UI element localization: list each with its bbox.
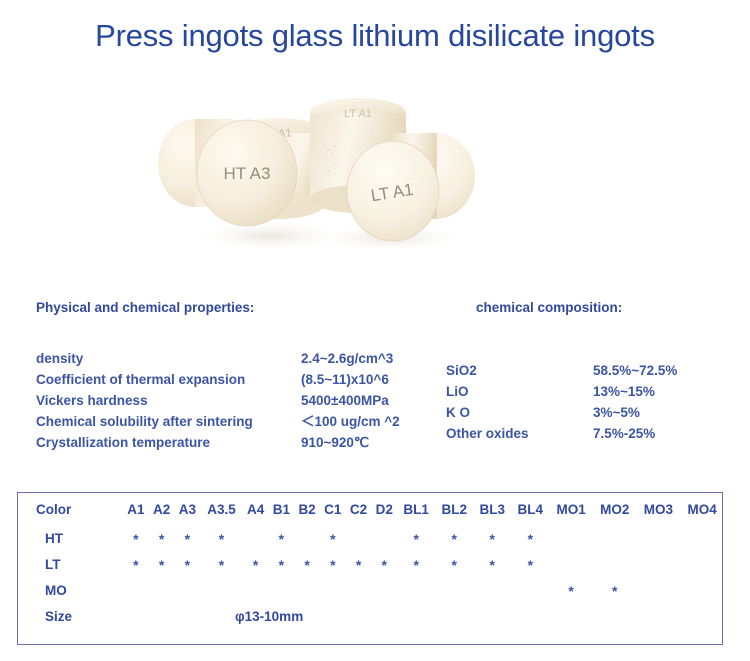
table-row: Vickers hardness 5400±400MPa	[36, 392, 400, 413]
cell-mo-a4	[243, 577, 269, 603]
row-label-size: Size	[18, 603, 123, 629]
page-title: Press ingots glass lithium disilicate in…	[0, 18, 750, 54]
ingot-label-ht-a3: HT A3	[224, 164, 271, 183]
cell-lt-mo3	[637, 551, 681, 577]
cell-mo-bl1	[397, 577, 435, 603]
cell-ht-mo3	[637, 525, 681, 551]
chemical-composition-heading: chemical composition:	[476, 300, 622, 315]
property-name: Coefficient of thermal expansion	[36, 371, 301, 392]
column-header-mo1: MO1	[549, 493, 593, 525]
cell-lt-mo1	[549, 551, 593, 577]
availability-star-icon: *	[330, 532, 335, 546]
property-name: Crystallization temperature	[36, 434, 301, 455]
chemical-composition-table: SiO2 58.5%~72.5% LiO 13%~15% K O 3%~5% O…	[446, 362, 677, 446]
svg-text:LT A1: LT A1	[344, 108, 372, 120]
availability-star-icon: *	[490, 532, 495, 546]
cell-lt-b2: *	[294, 551, 320, 577]
availability-star-icon: *	[612, 584, 617, 598]
availability-star-icon: *	[413, 558, 418, 572]
column-header-bl4: BL4	[511, 493, 549, 525]
cell-lt-a4: *	[243, 551, 269, 577]
column-header-bl3: BL3	[473, 493, 511, 525]
table-row: Other oxides 7.5%-25%	[446, 425, 677, 446]
availability-star-icon: *	[279, 532, 284, 546]
property-value: ＜100 ug/cm ^2	[301, 413, 400, 434]
cell-ht-d2	[371, 525, 397, 551]
availability-star-icon: *	[185, 558, 190, 572]
cell-lt-a3: *	[174, 551, 200, 577]
cell-ht-a4	[243, 525, 269, 551]
cell-mo-bl3	[473, 577, 511, 603]
column-header-a3-5: A3.5	[200, 493, 243, 525]
ingot-lt-a1: LT A1	[347, 141, 439, 241]
cell-ht-bl3: *	[473, 525, 511, 551]
property-value: 910~920℃	[301, 434, 400, 455]
column-header-mo2: MO2	[593, 493, 637, 525]
cell-lt-a3-5: *	[200, 551, 243, 577]
cell-ht-bl4: *	[511, 525, 549, 551]
cell-lt-bl3: *	[473, 551, 511, 577]
row-label-lt: LT	[18, 551, 123, 577]
cell-lt-a2: *	[149, 551, 175, 577]
cell-mo-a2	[149, 577, 175, 603]
cell-ht-a3-5: *	[200, 525, 243, 551]
table-row: MO**	[18, 577, 724, 603]
availability-star-icon: *	[185, 532, 190, 546]
row-label-ht: HT	[18, 525, 123, 551]
availability-star-icon: *	[253, 558, 258, 572]
cell-lt-c1: *	[320, 551, 346, 577]
cell-lt-mo4	[680, 551, 724, 577]
compound-name: Other oxides	[446, 425, 593, 446]
size-value: φ13-10mm	[123, 603, 724, 629]
property-name: Vickers hardness	[36, 392, 301, 413]
availability-star-icon: *	[356, 558, 361, 572]
cell-lt-c2: *	[346, 551, 372, 577]
column-header-d2: D2	[371, 493, 397, 525]
availability-star-icon: *	[304, 558, 309, 572]
availability-star-icon: *	[528, 558, 533, 572]
availability-star-icon: *	[159, 558, 164, 572]
ingot-ht-a3: HT A3	[197, 120, 297, 226]
physical-properties-heading: Physical and chemical properties:	[36, 300, 254, 315]
cell-ht-mo2	[593, 525, 637, 551]
product-image-ingots: LT A1 LT A1 HT A3	[150, 88, 480, 258]
cell-mo-mo3	[637, 577, 681, 603]
property-name: Chemical solubility after sintering	[36, 413, 301, 434]
availability-star-icon: *	[133, 532, 138, 546]
column-header-mo3: MO3	[637, 493, 681, 525]
availability-star-icon: *	[133, 558, 138, 572]
availability-star-icon: *	[219, 532, 224, 546]
table-row: Chemical solubility after sintering ＜100…	[36, 413, 400, 434]
availability-star-icon: *	[330, 558, 335, 572]
table-row: LiO 13%~15%	[446, 383, 677, 404]
color-availability-table: Color A1A2A3A3.5A4B1B2C1C2D2BL1BL2BL3BL4…	[18, 493, 724, 629]
compound-name: LiO	[446, 383, 593, 404]
cell-lt-bl2: *	[435, 551, 473, 577]
column-header-a1: A1	[123, 493, 149, 525]
column-header-bl2: BL2	[435, 493, 473, 525]
compound-value: 13%~15%	[593, 383, 677, 404]
table-row: K O 3%~5%	[446, 404, 677, 425]
cell-mo-bl2	[435, 577, 473, 603]
column-header-mo4: MO4	[680, 493, 724, 525]
cell-ht-mo4	[680, 525, 724, 551]
compound-value: 3%~5%	[593, 404, 677, 425]
cell-ht-bl1: *	[397, 525, 435, 551]
cell-lt-b1: *	[268, 551, 294, 577]
compound-value: 7.5%-25%	[593, 425, 677, 446]
cell-ht-bl2: *	[435, 525, 473, 551]
cell-mo-b2	[294, 577, 320, 603]
table-header-row: Color A1A2A3A3.5A4B1B2C1C2D2BL1BL2BL3BL4…	[18, 493, 724, 525]
color-availability-table-container: Color A1A2A3A3.5A4B1B2C1C2D2BL1BL2BL3BL4…	[17, 492, 723, 645]
column-header-color: Color	[18, 493, 123, 525]
cell-mo-d2	[371, 577, 397, 603]
availability-star-icon: *	[219, 558, 224, 572]
cell-mo-b1	[268, 577, 294, 603]
column-header-c1: C1	[320, 493, 346, 525]
cell-mo-a1	[123, 577, 149, 603]
column-header-a4: A4	[243, 493, 269, 525]
cell-ht-a3: *	[174, 525, 200, 551]
availability-star-icon: *	[159, 532, 164, 546]
cell-mo-mo4	[680, 577, 724, 603]
column-header-c2: C2	[346, 493, 372, 525]
availability-star-icon: *	[568, 584, 573, 598]
table-row: Coefficient of thermal expansion (8.5~11…	[36, 371, 400, 392]
cell-mo-a3-5	[200, 577, 243, 603]
column-header-b2: B2	[294, 493, 320, 525]
cell-mo-c1	[320, 577, 346, 603]
row-label-mo: MO	[18, 577, 123, 603]
column-header-a2: A2	[149, 493, 175, 525]
compound-value: 58.5%~72.5%	[593, 362, 677, 383]
cell-mo-mo1: *	[549, 577, 593, 603]
table-row: LT**************	[18, 551, 724, 577]
column-header-bl1: BL1	[397, 493, 435, 525]
cell-lt-bl1: *	[397, 551, 435, 577]
cell-mo-a3	[174, 577, 200, 603]
availability-star-icon: *	[382, 558, 387, 572]
property-value: (8.5~11)x10^6	[301, 371, 400, 392]
table-row: SiO2 58.5%~72.5%	[446, 362, 677, 383]
table-row: HT**********	[18, 525, 724, 551]
cell-ht-c2	[346, 525, 372, 551]
table-row-size: Sizeφ13-10mm	[18, 603, 724, 629]
cell-lt-a1: *	[123, 551, 149, 577]
cell-ht-b2	[294, 525, 320, 551]
availability-star-icon: *	[451, 558, 456, 572]
color-table-body: HT**********LT**************MO**Sizeφ13-…	[18, 525, 724, 629]
cell-ht-b1: *	[268, 525, 294, 551]
table-row: Crystallization temperature 910~920℃	[36, 434, 400, 455]
availability-star-icon: *	[490, 558, 495, 572]
cell-mo-bl4	[511, 577, 549, 603]
cell-ht-c1: *	[320, 525, 346, 551]
cell-mo-c2	[346, 577, 372, 603]
availability-star-icon: *	[528, 532, 533, 546]
cell-ht-a1: *	[123, 525, 149, 551]
cell-lt-bl4: *	[511, 551, 549, 577]
availability-star-icon: *	[451, 532, 456, 546]
compound-name: K O	[446, 404, 593, 425]
cell-lt-d2: *	[371, 551, 397, 577]
table-row: density 2.4~2.6g/cm^3	[36, 350, 400, 371]
availability-star-icon: *	[413, 532, 418, 546]
cell-ht-mo1	[549, 525, 593, 551]
compound-name: SiO2	[446, 362, 593, 383]
column-header-b1: B1	[268, 493, 294, 525]
cell-mo-mo2: *	[593, 577, 637, 603]
cell-ht-a2: *	[149, 525, 175, 551]
property-value: 2.4~2.6g/cm^3	[301, 350, 400, 371]
property-name: density	[36, 350, 301, 371]
availability-star-icon: *	[279, 558, 284, 572]
property-value: 5400±400MPa	[301, 392, 400, 413]
physical-properties-table: density 2.4~2.6g/cm^3 Coefficient of the…	[36, 350, 400, 455]
cell-lt-mo2	[593, 551, 637, 577]
column-header-a3: A3	[174, 493, 200, 525]
